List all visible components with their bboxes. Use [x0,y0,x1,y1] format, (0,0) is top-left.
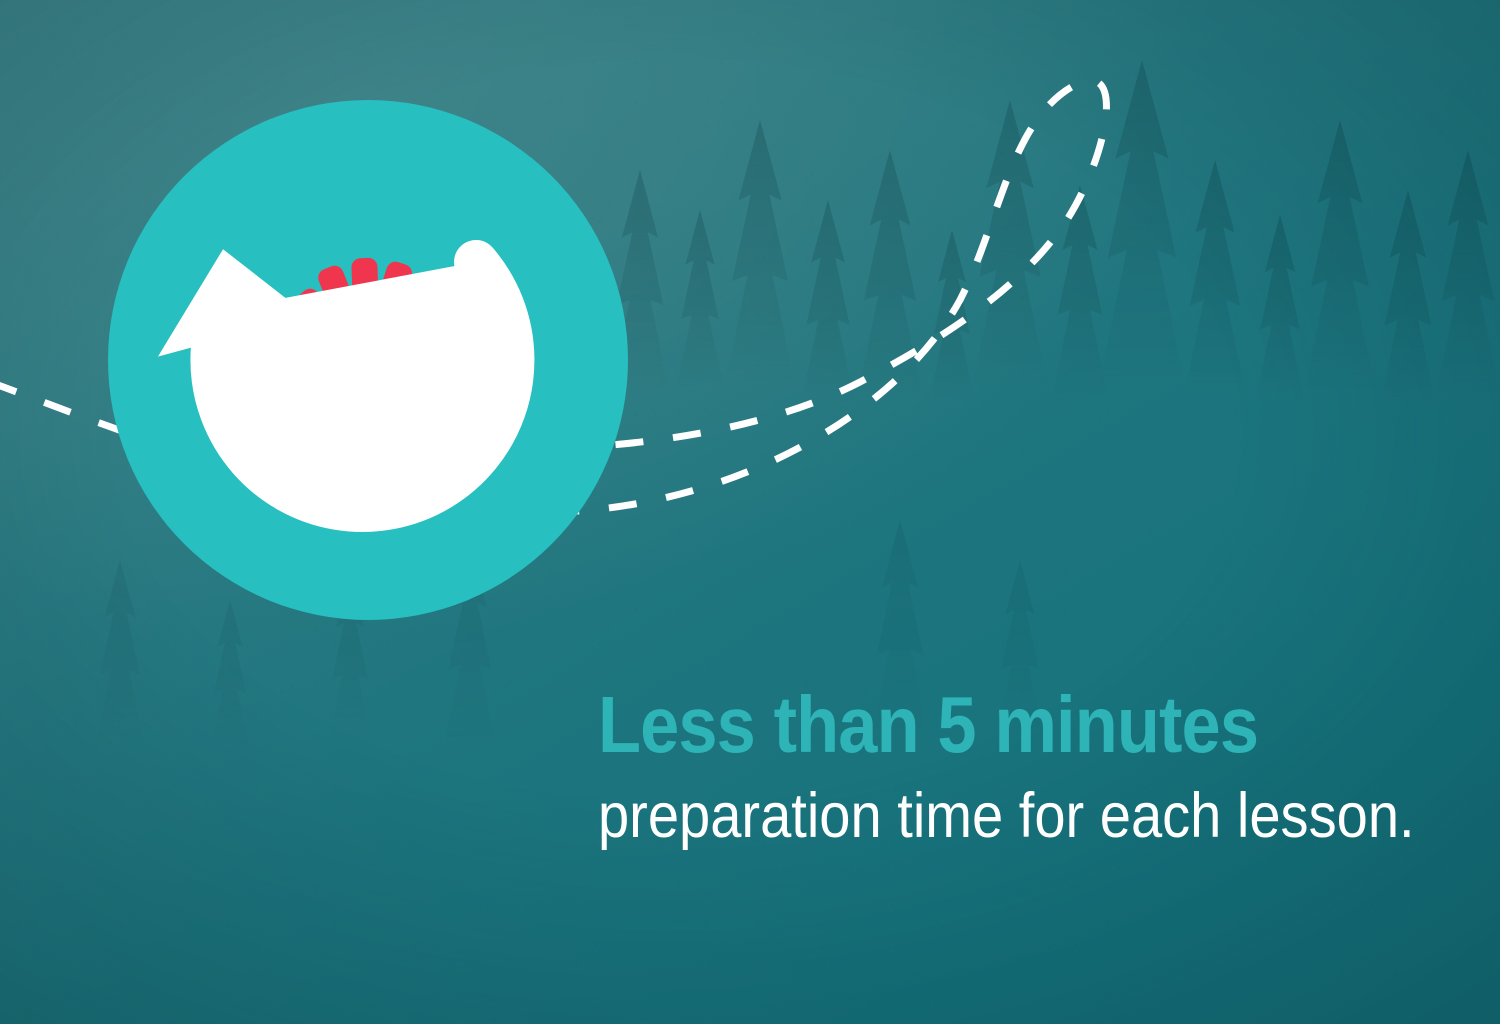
subheadline-text: preparation time for each lesson. [598,780,1337,852]
message-block: Less than 5 minutes preparation time for… [598,684,1428,852]
badge-number: 5 [144,274,591,392]
promo-banner: 5 mins Less than 5 minutes preparation t… [0,0,1500,1024]
badge-unit-label: mins [129,392,607,445]
five-minutes-badge: 5 mins [108,100,628,620]
headline-text: Less than 5 minutes [598,684,1328,766]
